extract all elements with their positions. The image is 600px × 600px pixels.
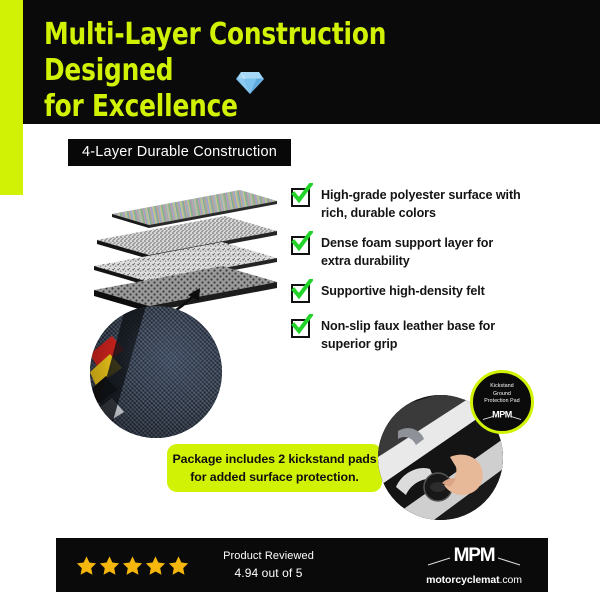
footer-bar: Product Reviewed 4.94 out of 5 MPM motor… (56, 538, 548, 592)
mpm-logo-icon: MPM (422, 544, 526, 568)
checkbox-frame (291, 319, 310, 338)
mpm-logo-icon: MPM (481, 408, 523, 421)
green-check-icon (291, 279, 313, 301)
star-icon (168, 555, 189, 576)
checkbox-frame (291, 188, 310, 207)
brand-url: motorcyclemat.com (414, 574, 534, 586)
feature-label: High-grade polyester surface with rich, … (321, 186, 521, 222)
kickstand-badge: Kickstand Ground Protection Pad MPM (470, 370, 534, 434)
list-item: Dense foam support layer for extra durab… (291, 234, 591, 270)
list-item: High-grade polyester surface with rich, … (291, 186, 591, 222)
green-check-icon (291, 183, 313, 205)
photo-vignette (90, 306, 222, 438)
feature-label: Non-slip faux leather base for superior … (321, 317, 495, 353)
list-item: Non-slip faux leather base for superior … (291, 317, 591, 353)
svg-text:MPM: MPM (454, 545, 495, 566)
list-item: Supportive high-density felt (291, 282, 591, 303)
checkbox-frame (291, 284, 310, 303)
checkbox-frame (291, 236, 310, 255)
star-rating (76, 555, 189, 576)
svg-text:MPM: MPM (492, 409, 512, 419)
review-label: Product Reviewed (201, 548, 336, 564)
brand-block: MPM motorcyclemat.com (414, 544, 534, 586)
callout-box: Package includes 2 kickstand pads for ad… (167, 444, 382, 492)
section-subtitle-pill: 4-Layer Durable Construction (68, 139, 291, 166)
green-check-icon (291, 231, 313, 253)
star-icon (145, 555, 166, 576)
brand-url-tld: .com (500, 574, 522, 586)
feature-label: Dense foam support layer for extra durab… (321, 234, 493, 270)
page-title: Multi-Layer Construction Designed for Ex… (44, 17, 522, 125)
star-icon (122, 555, 143, 576)
brand-url-name: motorcyclemat (426, 574, 499, 586)
star-icon (76, 555, 97, 576)
review-score: 4.94 out of 5 (201, 564, 336, 582)
diamond-gem-icon (235, 70, 265, 96)
feature-label: Supportive high-density felt (321, 282, 485, 300)
feature-list: High-grade polyester surface with rich, … (291, 186, 591, 365)
star-icon (99, 555, 120, 576)
review-summary: Product Reviewed 4.94 out of 5 (201, 548, 336, 582)
green-check-icon (291, 314, 313, 336)
mat-weave-closeup-photo (90, 306, 222, 438)
badge-label: Kickstand Ground Protection Pad (484, 383, 519, 405)
callout-text: Package includes 2 kickstand pads for ad… (173, 450, 377, 486)
left-accent-stripe (0, 0, 23, 195)
